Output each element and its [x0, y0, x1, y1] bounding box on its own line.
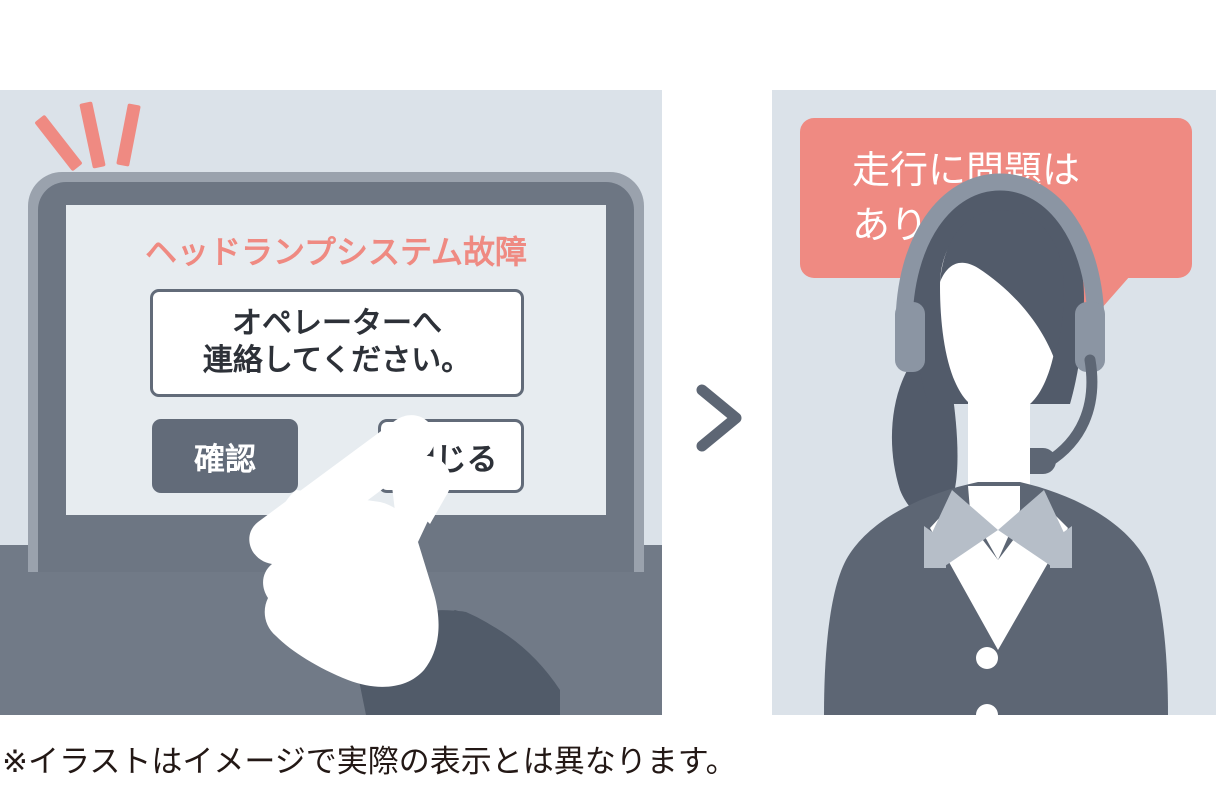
close-button[interactable]: 閉じる [378, 419, 524, 493]
confirm-button[interactable]: 確認 [152, 419, 298, 493]
display-screen: ヘッドランプシステム故障 オペレーターへ 連絡してください。 確認 閉じる [66, 205, 606, 515]
alert-flash-mark-icon [34, 115, 82, 172]
headset-earcup-left [895, 302, 925, 372]
disclaimer-caption: ※イラストはイメージで実際の表示とは異なります。 [2, 736, 737, 781]
right-panel-operator: 走行に問題は ありません。 [772, 90, 1216, 715]
alert-flash-mark-icon [79, 101, 105, 168]
operator-avatar [772, 90, 1216, 715]
flow-arrow [672, 378, 772, 458]
alert-flash-mark-icon [116, 103, 141, 166]
alert-button-row: 確認 閉じる [66, 419, 606, 495]
alert-message-line-2: 連絡してください。 [203, 343, 471, 380]
alert-message-box: オペレーターへ 連絡してください。 [150, 289, 524, 397]
left-panel-car-display: ヘッドランプシステム故障 オペレーターへ 連絡してください。 確認 閉じる [0, 90, 662, 715]
alert-title: ヘッドランプシステム故障 [66, 227, 606, 273]
illustration-stage: ヘッドランプシステム故障 オペレーターへ 連絡してください。 確認 閉じる [0, 0, 1216, 810]
alert-message-line-1: オペレーターへ [232, 306, 442, 343]
neck [968, 420, 1030, 492]
chevron-right-icon [672, 378, 772, 458]
jacket-button [976, 647, 998, 669]
